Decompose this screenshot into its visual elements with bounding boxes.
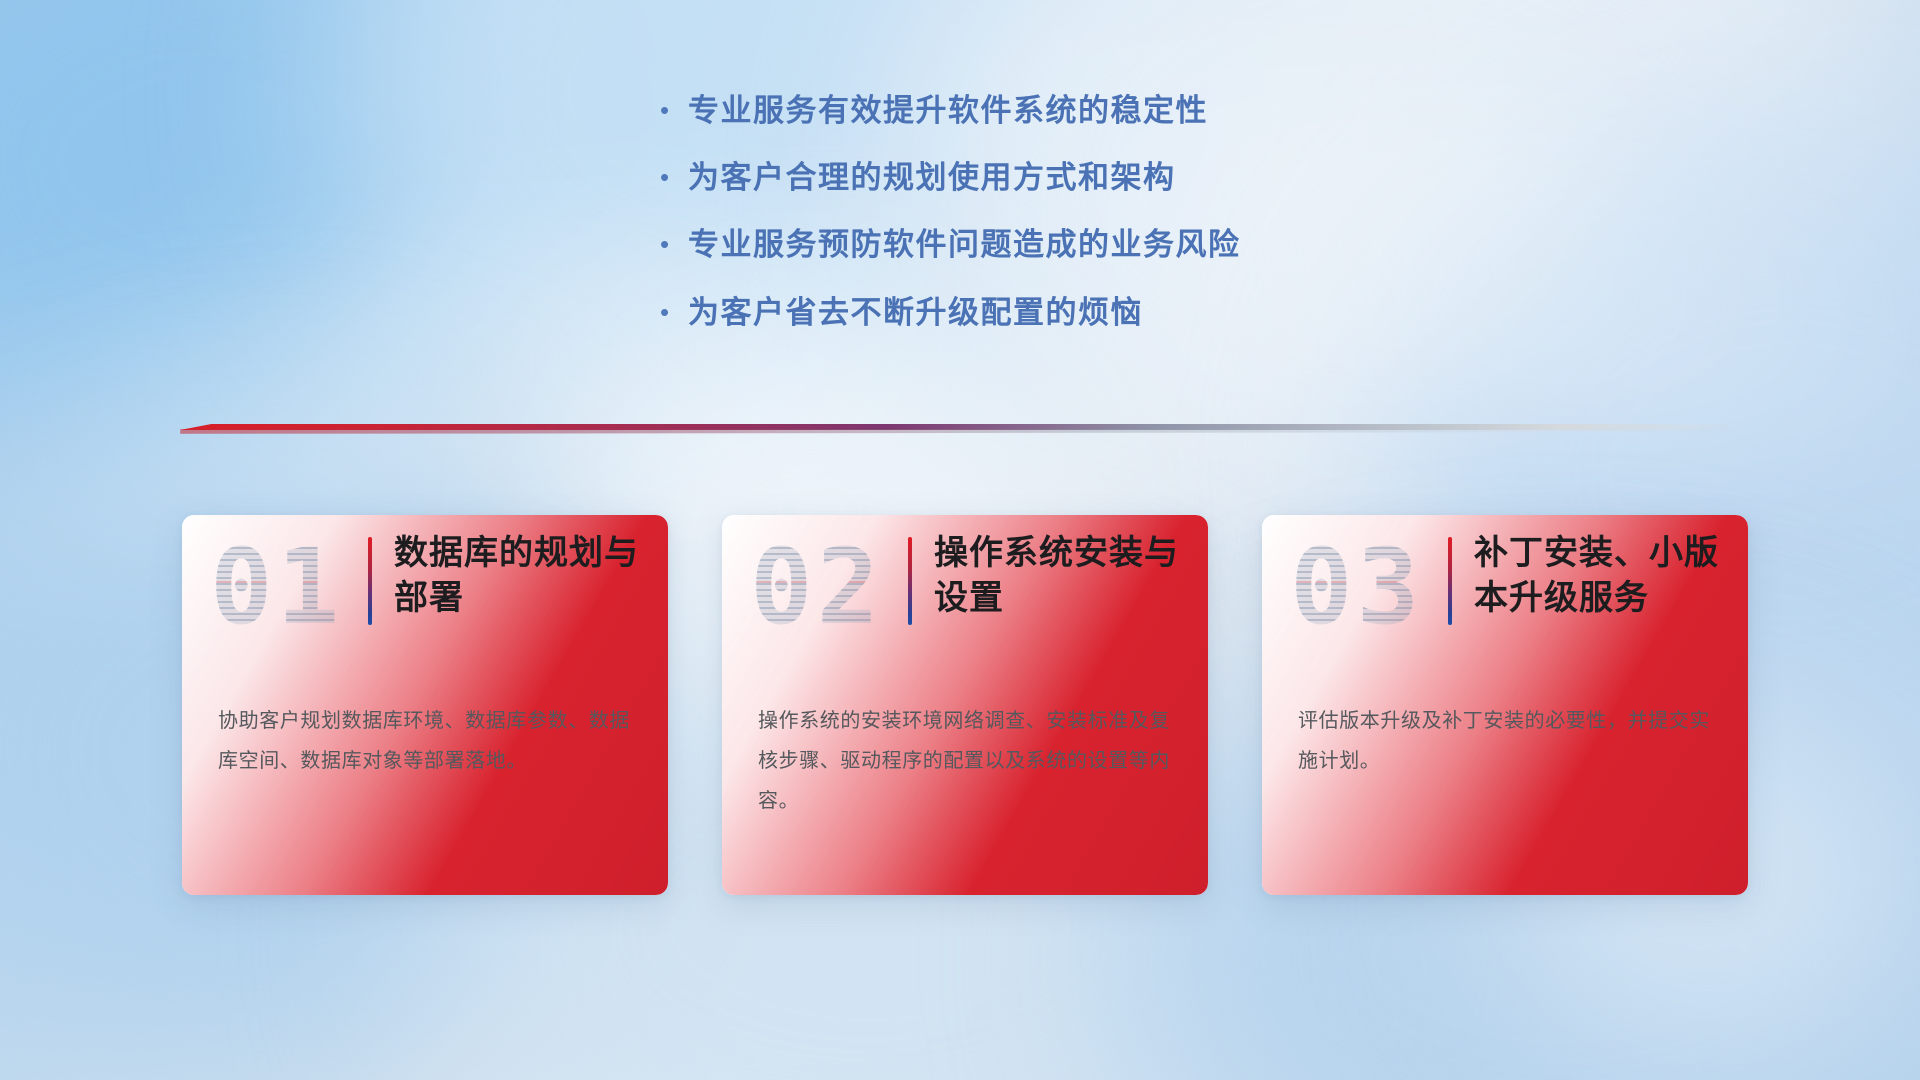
bullet-text: 为客户省去不断升级配置的烦恼 [688, 294, 1143, 331]
list-item: • 为客户合理的规划使用方式和架构 [660, 159, 1241, 196]
list-item: • 为客户省去不断升级配置的烦恼 [660, 294, 1241, 331]
bullet-text: 专业服务有效提升软件系统的稳定性 [688, 92, 1208, 129]
list-item: • 专业服务有效提升软件系统的稳定性 [660, 92, 1241, 129]
card-number-watermark: 01 [210, 535, 343, 639]
service-card-03[interactable]: 03 补丁安装、小版本升级服务 评估版本升级及补丁安装的必要性，并提交实施计划。 [1262, 515, 1748, 895]
bullet-text: 为客户合理的规划使用方式和架构 [688, 159, 1176, 196]
section-divider [180, 424, 1750, 436]
card-description: 协助客户规划数据库环境、数据库参数、数据库空间、数据库对象等部署落地。 [218, 701, 638, 781]
card-title-accent-bar [908, 537, 912, 625]
card-title: 操作系统安装与设置 [934, 531, 1184, 621]
bullet-text: 专业服务预防软件问题造成的业务风险 [688, 226, 1241, 263]
card-header: 01 数据库的规划与部署 [182, 515, 668, 683]
service-card-01[interactable]: 01 数据库的规划与部署 协助客户规划数据库环境、数据库参数、数据库空间、数据库… [182, 515, 668, 895]
service-card-list: 01 数据库的规划与部署 协助客户规划数据库环境、数据库参数、数据库空间、数据库… [182, 515, 1748, 895]
card-description: 操作系统的安装环境网络调查、安装标准及复核步骤、驱动程序的配置以及系统的设置等内… [758, 701, 1178, 821]
benefits-bullet-list: • 专业服务有效提升软件系统的稳定性 • 为客户合理的规划使用方式和架构 • 专… [660, 92, 1241, 361]
card-title-accent-bar [1448, 537, 1452, 625]
bullet-dot-icon: • [660, 299, 688, 325]
card-title: 补丁安装、小版本升级服务 [1474, 531, 1724, 621]
card-header: 02 操作系统安装与设置 [722, 515, 1208, 683]
list-item: • 专业服务预防软件问题造成的业务风险 [660, 226, 1241, 263]
card-header: 03 补丁安装、小版本升级服务 [1262, 515, 1748, 683]
card-number-watermark: 02 [750, 535, 883, 639]
card-description: 评估版本升级及补丁安装的必要性，并提交实施计划。 [1298, 701, 1718, 781]
bullet-dot-icon: • [660, 164, 688, 190]
bullet-dot-icon: • [660, 97, 688, 123]
bullet-dot-icon: • [660, 231, 688, 257]
card-title-accent-bar [368, 537, 372, 625]
card-title: 数据库的规划与部署 [394, 531, 644, 621]
divider-line-shadow [180, 429, 1750, 434]
service-card-02[interactable]: 02 操作系统安装与设置 操作系统的安装环境网络调查、安装标准及复核步骤、驱动程… [722, 515, 1208, 895]
card-number-watermark: 03 [1290, 535, 1423, 639]
